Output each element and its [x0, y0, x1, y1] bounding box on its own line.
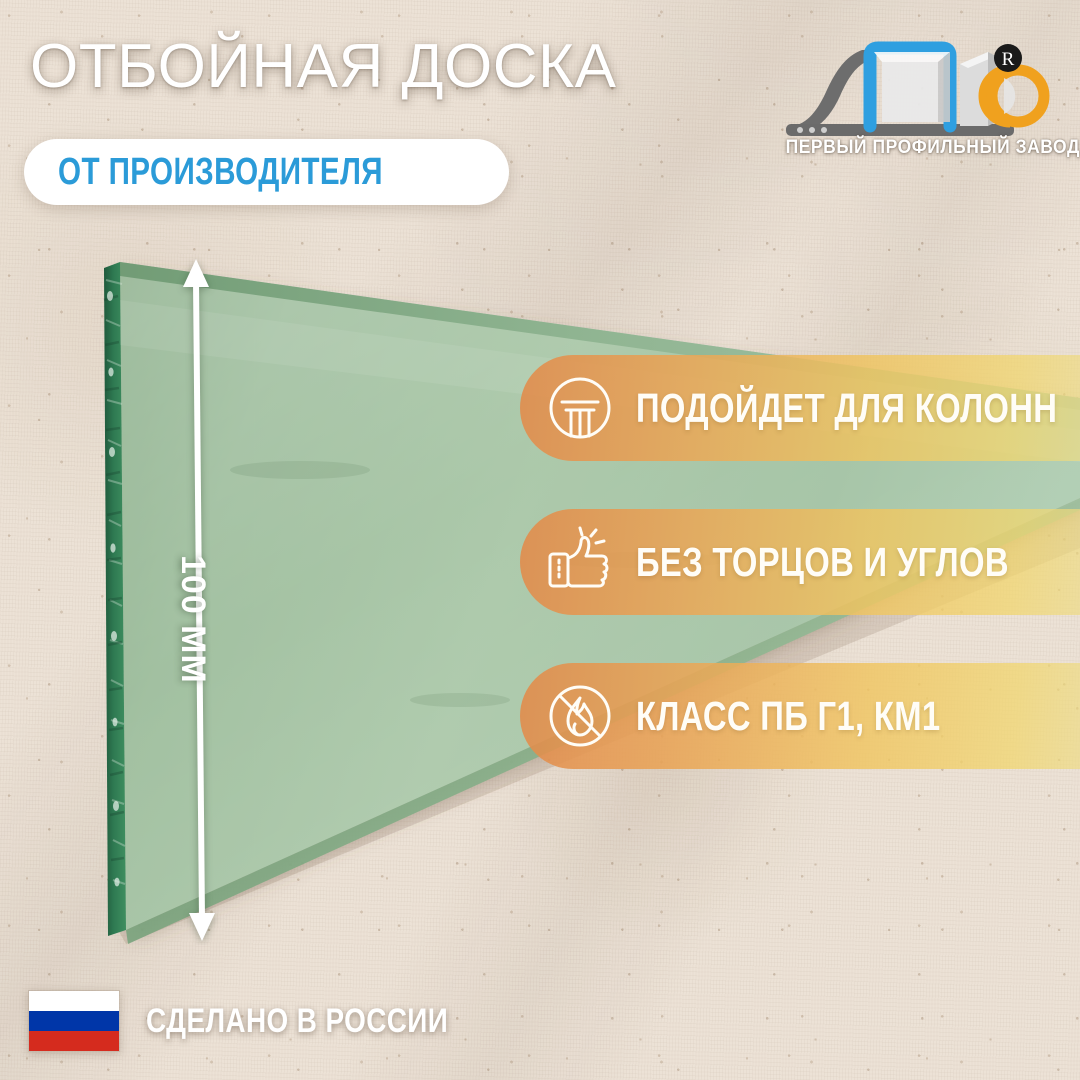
- feature-badge-fire-class: КЛАСС ПБ Г1, КМ1: [520, 663, 1080, 769]
- flag-stripe-red: [29, 1031, 119, 1051]
- made-in-russia: СДЕЛАНО В РОССИИ: [28, 990, 515, 1052]
- manufacturer-badge-label: ОТ ПРОИЗВОДИТЕЛЯ: [58, 151, 383, 194]
- feature-badge-no-edges: БЕЗ ТОРЦОВ И УГЛОВ: [520, 509, 1080, 615]
- feature-badge-label: БЕЗ ТОРЦОВ И УГЛОВ: [636, 539, 1009, 586]
- feature-badge-list: ПОДОЙДЕТ ДЛЯ КОЛОНН БЕЗ ТОРЦОВ И УГЛОВ: [520, 355, 1080, 769]
- feature-badge-label: ПОДОЙДЕТ ДЛЯ КОЛОНН: [636, 385, 1057, 432]
- company-logo: R ПЕРВЫЙ ПРОФИЛЬНЫЙ ЗАВОД: [774, 34, 1064, 159]
- svg-text:R: R: [1002, 49, 1015, 70]
- flag-stripe-white: [29, 991, 119, 1011]
- column-icon: [542, 370, 618, 446]
- ppz-logo-icon: R: [774, 34, 1064, 139]
- feature-badge-columns: ПОДОЙДЕТ ДЛЯ КОЛОНН: [520, 355, 1080, 461]
- made-in-russia-label: СДЕЛАНО В РОССИИ: [146, 1002, 448, 1041]
- page-title: ОТБОЙНАЯ ДОСКА: [30, 36, 616, 98]
- no-fire-icon: [542, 678, 618, 754]
- feature-badge-label: КЛАСС ПБ Г1, КМ1: [636, 693, 940, 740]
- manufacturer-badge: ОТ ПРОИЗВОДИТЕЛЯ: [24, 139, 509, 205]
- flag-stripe-blue: [29, 1011, 119, 1031]
- thumbs-up-icon: [542, 524, 618, 600]
- russia-flag-icon: [28, 990, 120, 1052]
- company-logo-name: ПЕРВЫЙ ПРОФИЛЬНЫЙ ЗАВОД: [786, 137, 1053, 159]
- dimension-arrow: 100 ММ: [150, 255, 280, 945]
- dimension-label: 100 ММ: [173, 555, 212, 684]
- banner-canvas: ОТБОЙНАЯ ДОСКА ОТ ПРОИЗВОДИТЕЛЯ: [0, 0, 1080, 1080]
